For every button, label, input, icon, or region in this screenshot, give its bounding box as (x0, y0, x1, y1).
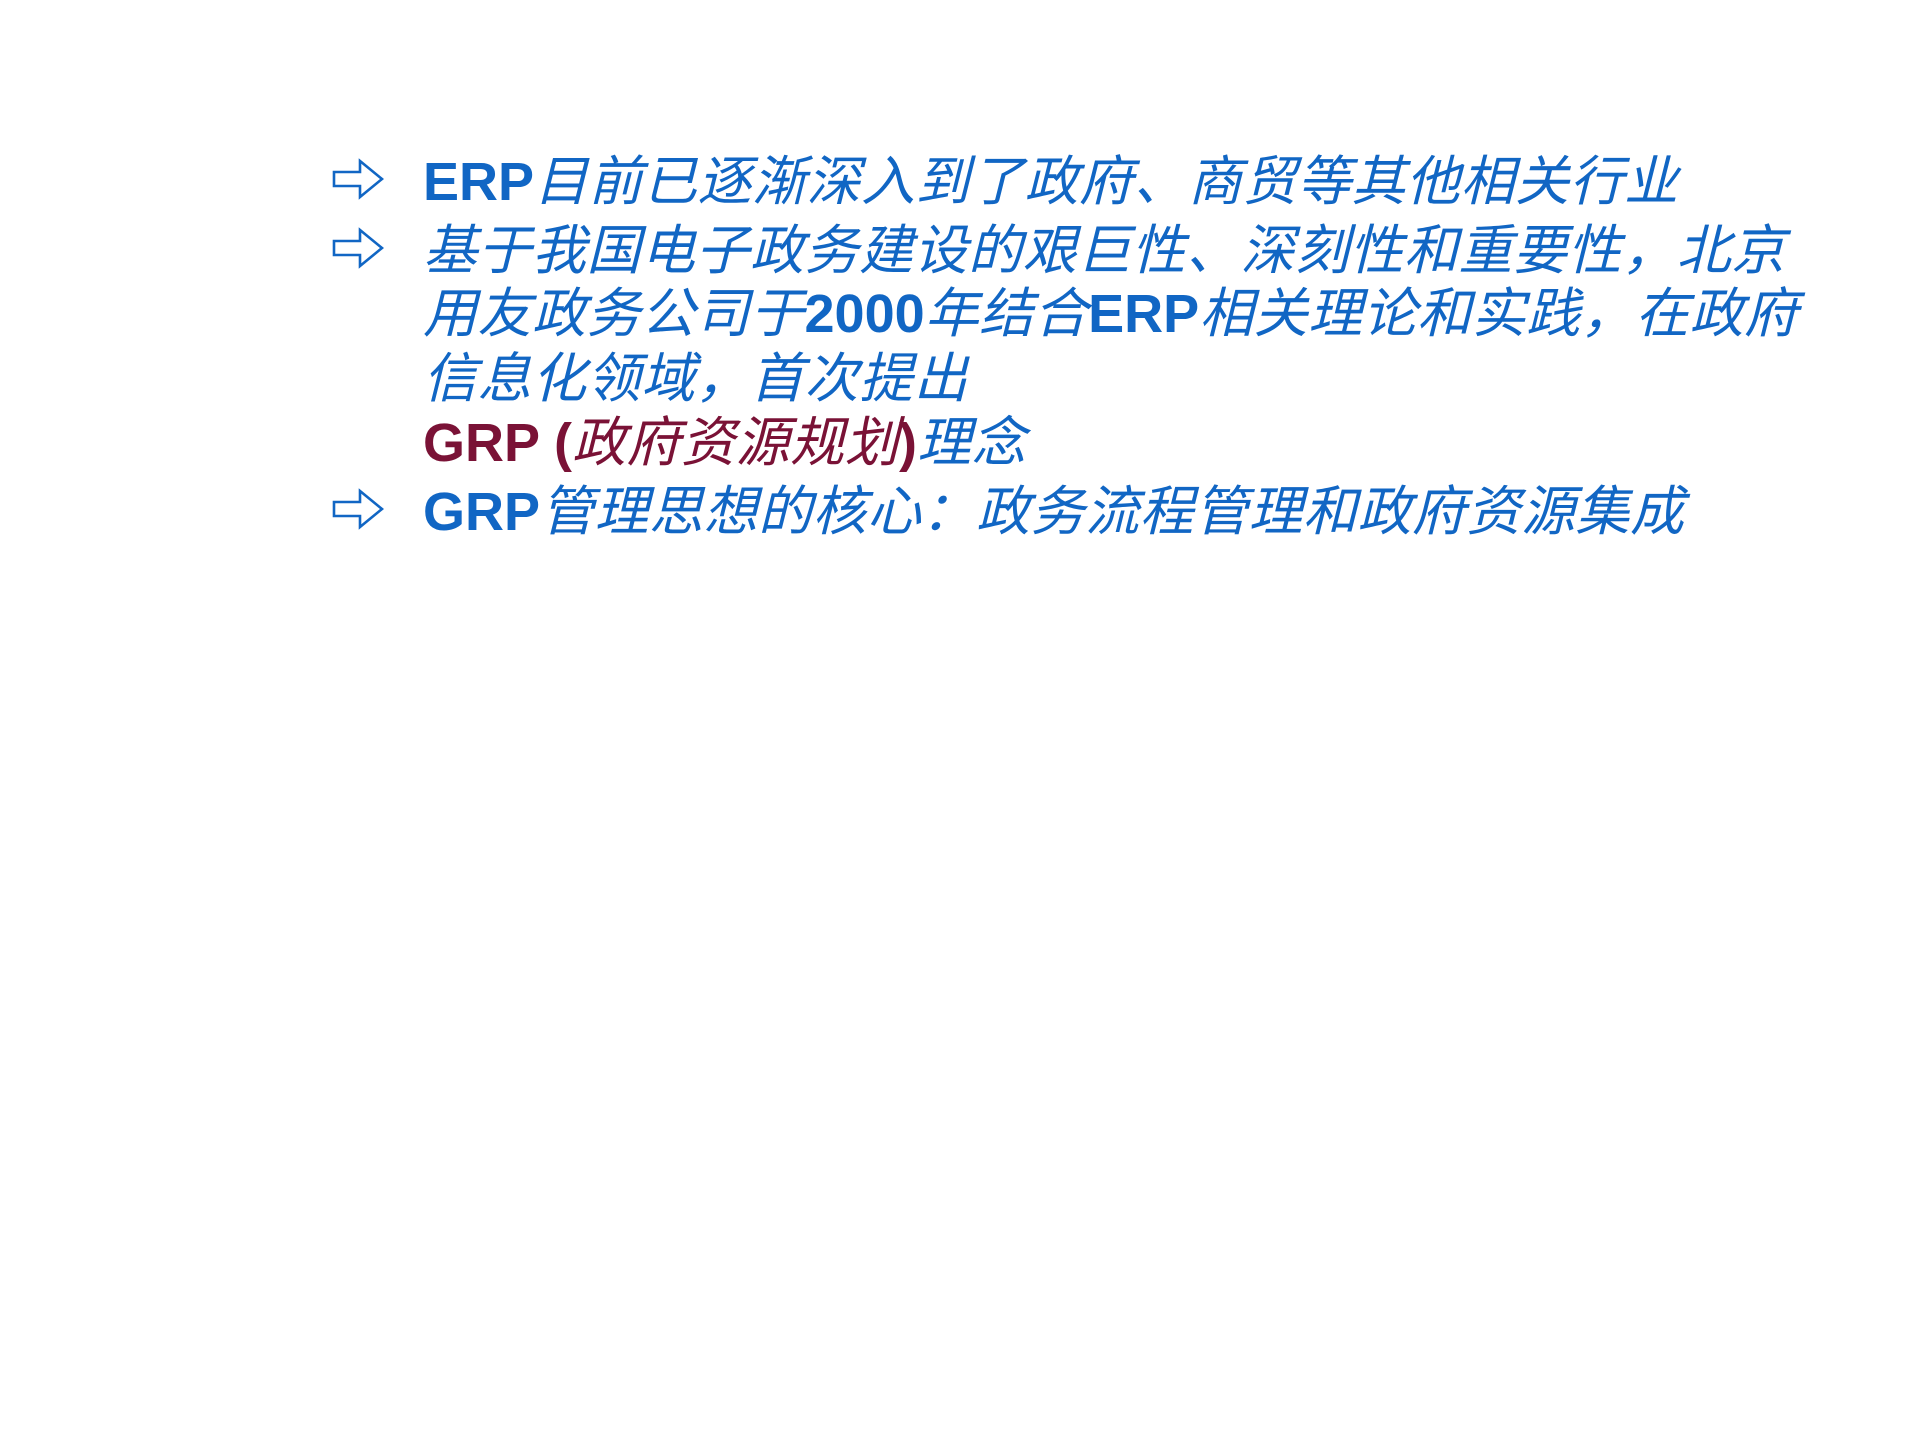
bullet-2-run-b: 年结合 (925, 282, 1089, 345)
bullet-2-run-year: 2000 (805, 284, 925, 344)
bullet-item-3: GRP管理思想的核心：政务流程管理和政府资源集成 (318, 480, 1828, 545)
bullet-2-run-grp-open: GRP ( (423, 413, 572, 473)
bullet-3-run-body: 管理思想的核心：政务流程管理和政府资源集成 (540, 480, 1685, 543)
bullet-text-3: GRP管理思想的核心：政务流程管理和政府资源集成 (423, 480, 1828, 545)
hollow-right-arrow-icon (332, 486, 384, 532)
bullet-2-run-tail: 理念 (917, 411, 1026, 474)
hollow-right-arrow-icon (332, 225, 384, 271)
bullet-text-2: 基于我国电子政务建设的艰巨性、深刻性和重要性，北京用友政务公司于2000年结合E… (423, 219, 1828, 476)
bullet-1-run-body: 目前已逐渐深入到了政府、商贸等其他相关行业 (534, 150, 1679, 213)
bullet-2-run-grp-cjk: 政府资源规划 (572, 411, 899, 474)
bullet-text-1: ERP目前已逐渐深入到了政府、商贸等其他相关行业 (423, 150, 1828, 215)
slide-canvas: ERP目前已逐渐深入到了政府、商贸等其他相关行业 基于我国电子政务建设的艰巨性、… (0, 0, 1920, 1440)
bullet-2-run-grp-close: ) (899, 413, 917, 473)
bullet-1-run-erp: ERP (423, 152, 534, 212)
hollow-right-arrow-icon (332, 156, 384, 202)
bullet-item-2: 基于我国电子政务建设的艰巨性、深刻性和重要性，北京用友政务公司于2000年结合E… (318, 219, 1828, 476)
slide-body-content: ERP目前已逐渐深入到了政府、商贸等其他相关行业 基于我国电子政务建设的艰巨性、… (318, 150, 1828, 548)
bullet-3-run-grp: GRP (423, 482, 540, 542)
bullet-item-1: ERP目前已逐渐深入到了政府、商贸等其他相关行业 (318, 150, 1828, 215)
bullet-2-run-erp: ERP (1088, 284, 1199, 344)
